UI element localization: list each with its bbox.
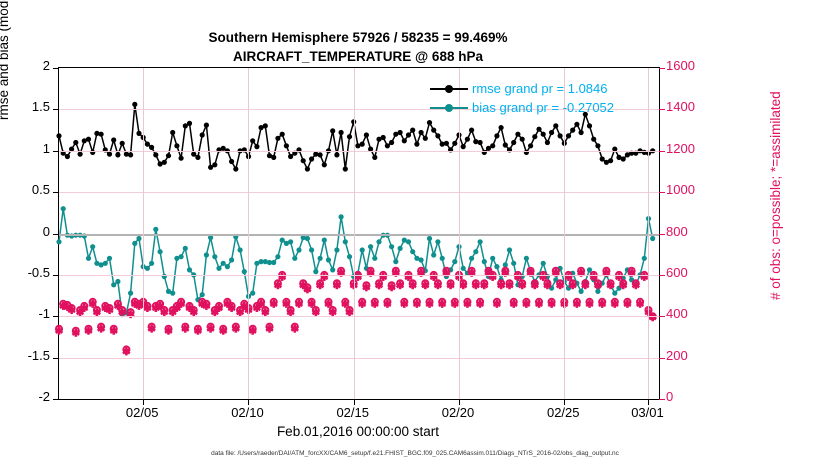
gridline-vertical: [143, 68, 144, 399]
data-point: [145, 266, 150, 271]
data-point: [254, 144, 259, 149]
obs-assimilated-marker: [93, 308, 100, 316]
tick-mark: [659, 68, 665, 69]
data-point: [166, 153, 171, 158]
y-tick-right: 1400: [666, 99, 716, 114]
legend-item-rmse: rmse grand pr = 1.0846: [430, 79, 614, 98]
data-point: [195, 155, 200, 160]
x-tick: 03/01: [607, 405, 687, 420]
obs-assimilated-marker: [346, 308, 353, 316]
data-point: [322, 238, 327, 243]
data-point: [579, 289, 584, 294]
obs-assimilated-marker: [447, 281, 454, 289]
obs-assimilated-marker: [249, 327, 256, 335]
data-point: [410, 128, 415, 133]
obs-assimilated-marker: [266, 325, 273, 333]
y-axis-right-label: # of obs: o=possible; *=assimilated: [768, 91, 783, 300]
obs-assimilated-marker: [262, 308, 269, 316]
data-point: [280, 132, 285, 137]
data-point: [435, 239, 440, 244]
data-point: [313, 152, 318, 157]
data-point: [410, 249, 415, 254]
data-point: [111, 282, 116, 287]
data-point: [99, 132, 104, 137]
obs-assimilated-marker: [312, 308, 319, 316]
obs-assimilated-marker: [384, 300, 391, 308]
obs-assimilated-marker: [207, 325, 214, 333]
data-point: [339, 214, 344, 219]
obs-assimilated-marker: [573, 300, 580, 308]
data-point: [301, 158, 306, 163]
data-point: [406, 132, 411, 137]
data-point: [452, 259, 457, 264]
data-point: [322, 162, 327, 167]
data-point: [536, 127, 541, 132]
obs-assimilated-marker: [611, 300, 618, 308]
x-tick: 02/20: [418, 405, 498, 420]
obs-assimilated-marker: [182, 325, 189, 333]
x-tick: 02/05: [102, 405, 182, 420]
tick-mark: [659, 192, 665, 193]
data-point: [515, 132, 520, 137]
legend-marker-rmse-icon: [430, 82, 468, 96]
data-point: [452, 141, 457, 146]
obs-assimilated-marker: [81, 304, 88, 312]
gridline-vertical: [564, 68, 565, 399]
gridline-vertical: [648, 68, 649, 399]
data-point: [86, 137, 91, 142]
gridline-vertical: [459, 68, 460, 399]
data-point: [174, 143, 179, 148]
obs-assimilated-marker: [194, 327, 201, 335]
obs-assimilated-marker: [548, 300, 555, 308]
title-line-1: Southern Hemisphere 57926 / 58235 = 99.4…: [0, 28, 716, 47]
data-point: [541, 261, 546, 266]
data-point: [608, 158, 613, 163]
obs-assimilated-marker: [317, 281, 324, 289]
data-point: [86, 256, 91, 261]
data-point: [482, 259, 487, 264]
data-point: [330, 267, 335, 272]
data-point: [179, 156, 184, 161]
data-point: [212, 162, 217, 167]
y-tick-right: 600: [666, 265, 716, 280]
gridline-horizontal: [59, 192, 659, 193]
x-tick: 02/15: [313, 405, 393, 420]
obs-assimilated-marker: [270, 300, 277, 308]
obs-assimilated-marker: [228, 304, 235, 312]
data-point: [128, 291, 133, 296]
data-point: [233, 166, 238, 171]
data-point: [212, 254, 217, 259]
data-point: [347, 134, 352, 139]
y-tick-right: 1600: [666, 58, 716, 73]
data-point: [393, 259, 398, 264]
data-point: [296, 247, 301, 252]
x-tick: 02/25: [523, 405, 603, 420]
obs-assimilated-marker: [401, 300, 408, 308]
obs-assimilated-marker: [434, 281, 441, 289]
data-point: [511, 261, 516, 266]
obs-assimilated-marker: [620, 281, 627, 289]
obs-assimilated-marker: [237, 308, 244, 316]
y-tick-left: 0.5: [0, 182, 50, 197]
obs-assimilated-marker: [632, 281, 639, 289]
obs-assimilated-marker: [409, 281, 416, 289]
y-tick-left: -0.5: [0, 265, 50, 280]
data-point: [507, 247, 512, 252]
y-tick-right: 1000: [666, 182, 716, 197]
obs-assimilated-marker: [439, 300, 446, 308]
obs-assimilated-marker: [460, 281, 467, 289]
obs-assimilated-marker: [594, 281, 601, 289]
obs-assimilated-marker: [363, 283, 370, 291]
data-point: [524, 256, 529, 261]
y-tick-left: 1.5: [0, 99, 50, 114]
obs-assimilated-marker: [144, 304, 151, 312]
data-point: [595, 143, 600, 148]
x-tick: 02/10: [207, 405, 287, 420]
data-point: [318, 256, 323, 261]
obs-assimilated-marker: [72, 329, 79, 337]
obs-assimilated-marker: [472, 281, 479, 289]
obs-assimilated-marker: [451, 300, 458, 308]
obs-assimilated-marker: [586, 300, 593, 308]
data-point: [107, 256, 112, 261]
data-point: [541, 132, 546, 137]
y-tick-right: 200: [666, 348, 716, 363]
data-point: [73, 140, 78, 145]
data-point: [187, 121, 192, 126]
y-tick-left: -2: [0, 389, 50, 404]
obs-assimilated-marker: [291, 325, 298, 333]
tick-mark: [53, 316, 59, 317]
data-point: [494, 264, 499, 269]
data-point: [115, 279, 120, 284]
obs-assimilated-marker: [220, 327, 227, 335]
data-point: [90, 244, 95, 249]
data-point: [414, 142, 419, 147]
data-point: [56, 239, 61, 244]
obs-assimilated-marker: [569, 281, 576, 289]
data-point: [545, 140, 550, 145]
obs-assimilated-marker: [426, 300, 433, 308]
obs-assimilated-marker: [161, 308, 168, 316]
data-point: [292, 256, 297, 261]
obs-assimilated-marker: [232, 325, 239, 333]
data-point: [162, 160, 167, 165]
data-point: [208, 235, 213, 240]
data-point: [158, 249, 163, 254]
data-point: [406, 239, 411, 244]
obs-assimilated-marker: [106, 306, 113, 314]
obs-assimilated-marker: [274, 281, 281, 289]
data-point: [595, 289, 600, 294]
tick-mark: [659, 234, 665, 235]
tick-mark: [659, 151, 665, 152]
data-point: [204, 123, 209, 128]
data-point: [461, 144, 466, 149]
data-point: [309, 247, 314, 252]
title-line-2: AIRCRAFT_TEMPERATURE @ 688 hPa: [0, 47, 716, 66]
data-point: [444, 141, 449, 146]
data-point: [284, 143, 289, 148]
chart-legend: rmse grand pr = 1.0846 bias grand pr = -…: [430, 79, 614, 117]
obs-assimilated-marker: [359, 300, 366, 308]
legend-item-bias: bias grand pr = -0.27052: [430, 98, 614, 117]
y-tick-left: -1: [0, 306, 50, 321]
data-point: [650, 236, 655, 241]
obs-assimilated-marker: [110, 327, 117, 335]
obs-assimilated-marker: [178, 300, 185, 308]
obs-assimilated-marker: [333, 281, 340, 289]
obs-assimilated-marker: [157, 302, 164, 310]
obs-assimilated-marker: [283, 300, 290, 308]
data-point: [179, 254, 184, 259]
data-point: [149, 145, 154, 150]
y-tick-left: 1: [0, 141, 50, 156]
data-point: [570, 128, 575, 133]
data-point: [579, 130, 584, 135]
tick-mark: [659, 358, 665, 359]
obs-assimilated-marker: [325, 300, 332, 308]
data-point: [132, 102, 137, 107]
obs-assimilated-marker: [397, 281, 404, 289]
data-point: [216, 266, 221, 271]
data-point: [343, 239, 348, 244]
tick-mark: [53, 109, 59, 110]
data-point: [136, 236, 141, 241]
obs-assimilated-marker: [599, 300, 606, 308]
data-point: [280, 238, 285, 243]
data-point: [553, 123, 558, 128]
gridline-vertical: [354, 68, 355, 399]
data-point: [271, 260, 276, 265]
data-point: [469, 256, 474, 261]
tick-mark: [53, 68, 59, 69]
obs-assimilated-marker: [98, 325, 105, 333]
y-tick-right: 800: [666, 224, 716, 239]
data-point: [225, 264, 230, 269]
obs-assimilated-marker: [203, 302, 210, 310]
data-point: [313, 269, 318, 274]
data-point: [271, 155, 276, 160]
gridline-vertical: [248, 68, 249, 399]
data-point: [65, 154, 70, 159]
obs-assimilated-marker: [304, 285, 311, 293]
obs-assimilated-marker: [258, 300, 265, 308]
data-point: [499, 125, 504, 130]
data-point: [250, 291, 255, 296]
tick-mark: [659, 275, 665, 276]
data-point: [419, 130, 424, 135]
obs-assimilated-marker: [148, 325, 155, 333]
data-point: [132, 241, 137, 246]
obs-assimilated-marker: [308, 300, 315, 308]
obs-assimilated-marker: [85, 327, 92, 335]
data-point: [532, 134, 537, 139]
obs-assimilated-marker: [342, 300, 349, 308]
y-tick-left: 0: [0, 224, 50, 239]
obs-assimilated-marker: [388, 283, 395, 291]
data-point: [372, 256, 377, 261]
data-point: [275, 136, 280, 141]
data-point: [360, 247, 365, 252]
obs-assimilated-marker: [510, 300, 517, 308]
obs-assimilated-marker: [477, 300, 484, 308]
obs-assimilated-marker: [56, 327, 63, 335]
data-point: [56, 133, 61, 138]
tick-mark: [53, 358, 59, 359]
obs-assimilated-marker: [481, 281, 488, 289]
data-point: [402, 138, 407, 143]
data-point: [115, 152, 120, 157]
data-point: [318, 152, 323, 157]
obs-assimilated-marker: [216, 304, 223, 312]
data-point: [612, 291, 617, 296]
data-point: [145, 142, 150, 147]
obs-assimilated-marker: [287, 308, 294, 316]
data-point: [419, 257, 424, 262]
data-point: [347, 254, 352, 259]
data-point: [364, 132, 369, 137]
data-point: [440, 256, 445, 261]
data-point: [170, 130, 175, 135]
tick-mark: [53, 234, 59, 235]
data-point: [339, 130, 344, 135]
data-point: [368, 244, 373, 249]
y-tick-left: -1.5: [0, 348, 50, 363]
tick-mark: [53, 151, 59, 152]
obs-assimilated-marker: [582, 281, 589, 289]
obs-assimilated-marker: [557, 281, 564, 289]
legend-marker-bias-icon: [430, 101, 468, 115]
data-point: [229, 257, 234, 262]
data-point: [305, 236, 310, 241]
data-point: [136, 131, 141, 136]
data-point: [330, 128, 335, 133]
data-point: [288, 239, 293, 244]
x-axis-label: Feb.01,2016 00:00:00 start: [0, 424, 716, 439]
data-point: [431, 252, 436, 257]
data-point: [520, 137, 525, 142]
chart-page: Southern Hemisphere 57926 / 58235 = 99.4…: [0, 0, 830, 470]
obs-assimilated-marker: [536, 300, 543, 308]
data-point: [120, 141, 125, 146]
data-point: [128, 152, 133, 157]
data-point: [263, 123, 268, 128]
data-point: [528, 143, 533, 148]
data-point: [229, 159, 234, 164]
data-point: [465, 137, 470, 142]
data-point: [149, 261, 154, 266]
data-point: [334, 247, 339, 252]
y-tick-right: 1200: [666, 141, 716, 156]
obs-assimilated-marker: [649, 313, 656, 321]
data-point: [427, 120, 432, 125]
obs-assimilated-marker: [422, 281, 429, 289]
data-point: [221, 261, 226, 266]
obs-assimilated-marker: [114, 302, 121, 310]
data-point: [111, 137, 116, 142]
obs-assimilated-marker: [123, 347, 130, 355]
data-point: [566, 133, 571, 138]
data-point: [427, 236, 432, 241]
obs-assimilated-marker: [624, 300, 631, 308]
data-point: [191, 152, 196, 157]
data-point: [107, 152, 112, 157]
data-point: [78, 152, 83, 157]
data-point: [334, 152, 339, 157]
data-point: [490, 143, 495, 148]
tick-mark: [53, 399, 59, 400]
obs-assimilated-marker: [119, 308, 126, 316]
tick-mark: [659, 316, 665, 317]
obs-assimilated-marker: [68, 306, 75, 314]
data-point: [187, 267, 192, 272]
obs-assimilated-marker: [519, 281, 526, 289]
data-point: [343, 166, 348, 171]
data-point: [435, 133, 440, 138]
data-point: [153, 227, 158, 232]
data-point: [360, 142, 365, 147]
data-point: [398, 130, 403, 135]
data-point: [376, 239, 381, 244]
obs-assimilated-marker: [376, 281, 383, 289]
data-point: [473, 139, 478, 144]
obs-assimilated-marker: [607, 281, 614, 289]
data-point: [250, 138, 255, 143]
data-point: [587, 123, 592, 128]
data-point: [385, 143, 390, 148]
data-point: [431, 128, 436, 133]
data-point: [200, 132, 205, 137]
gridline-horizontal: [59, 358, 659, 359]
data-point: [511, 140, 516, 145]
data-point: [600, 156, 605, 161]
data-point: [372, 155, 377, 160]
legend-label-rmse: rmse grand pr = 1.0846: [472, 81, 608, 96]
data-point: [398, 246, 403, 251]
data-point: [574, 122, 579, 127]
zero-reference-line: [59, 234, 659, 236]
obs-assimilated-marker: [371, 300, 378, 308]
data-point: [153, 152, 158, 157]
data-point: [591, 137, 596, 142]
tick-mark: [53, 275, 59, 276]
obs-assimilated-marker: [531, 281, 538, 289]
obs-assimilated-marker: [493, 300, 500, 308]
chart-title: Southern Hemisphere 57926 / 58235 = 99.4…: [0, 28, 716, 66]
tick-mark: [659, 399, 665, 400]
data-point: [389, 140, 394, 145]
obs-assimilated-marker: [89, 300, 96, 308]
legend-label-bias: bias grand pr = -0.27052: [472, 100, 614, 115]
data-point: [309, 156, 314, 161]
data-point: [326, 257, 331, 262]
data-point: [170, 291, 175, 296]
data-point: [490, 256, 495, 261]
data-point: [478, 140, 483, 145]
data-point: [549, 130, 554, 135]
tick-mark: [53, 192, 59, 193]
obs-assimilated-marker: [637, 300, 644, 308]
obs-assimilated-marker: [413, 300, 420, 308]
data-point: [642, 256, 647, 261]
gridline-horizontal: [59, 151, 659, 152]
data-point: [478, 239, 483, 244]
data-point: [288, 154, 293, 159]
